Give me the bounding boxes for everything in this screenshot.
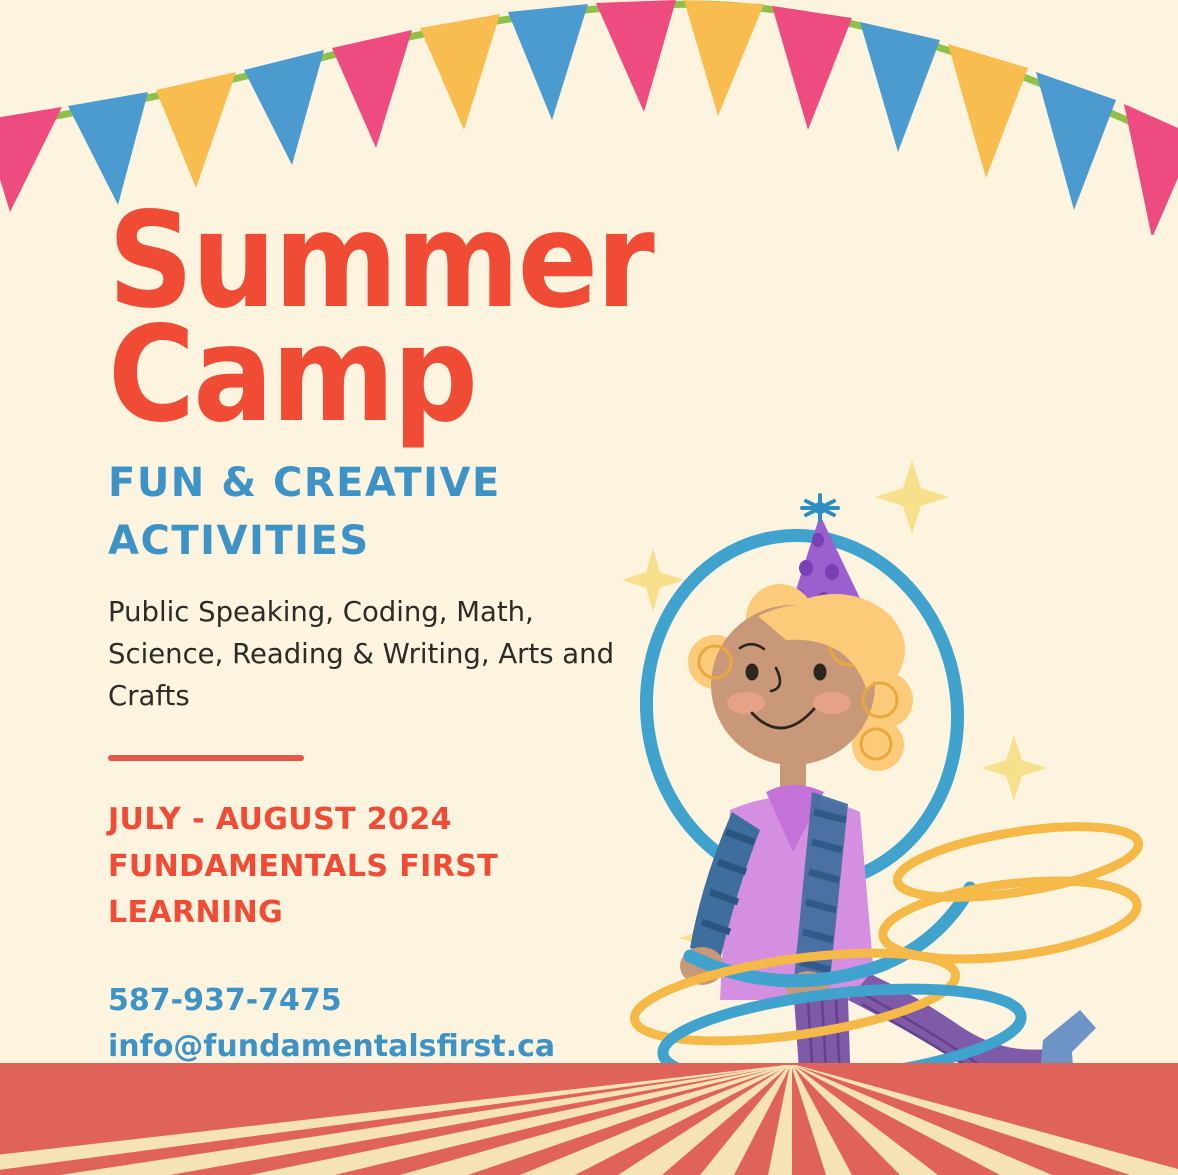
blush-right: [813, 692, 851, 714]
eye-right: [814, 664, 827, 681]
organization-name-line-2: LEARNING: [108, 890, 528, 936]
girl-hula-hooping-illustration: [580, 400, 1178, 1120]
sparkle-icon: [875, 460, 949, 534]
subheading: FUN & CREATIVE ACTIVITIES: [108, 454, 528, 570]
sunburst-floor: [0, 1063, 1178, 1175]
neck: [780, 752, 806, 790]
poster-canvas: Summer Camp FUN & CREATIVE ACTIVITIES Pu…: [0, 0, 1178, 1175]
blush-left: [727, 692, 765, 714]
page-title: Summer Camp: [108, 205, 728, 432]
sparkle-icon: [981, 735, 1047, 801]
subheading-line-1: FUN & CREATIVE: [108, 454, 528, 512]
eye-left: [746, 664, 759, 681]
subheading-line-2: ACTIVITIES: [108, 512, 528, 570]
organization-name-line-1: FUNDAMENTALS FIRST: [108, 844, 528, 890]
camp-details: JULY - AUGUST 2024 FUNDAMENTALS FIRST LE…: [108, 797, 528, 936]
section-divider: [108, 755, 304, 761]
camp-dates: JULY - AUGUST 2024: [108, 797, 528, 843]
activities-description: Public Speaking, Coding, Math, Science, …: [108, 592, 628, 717]
